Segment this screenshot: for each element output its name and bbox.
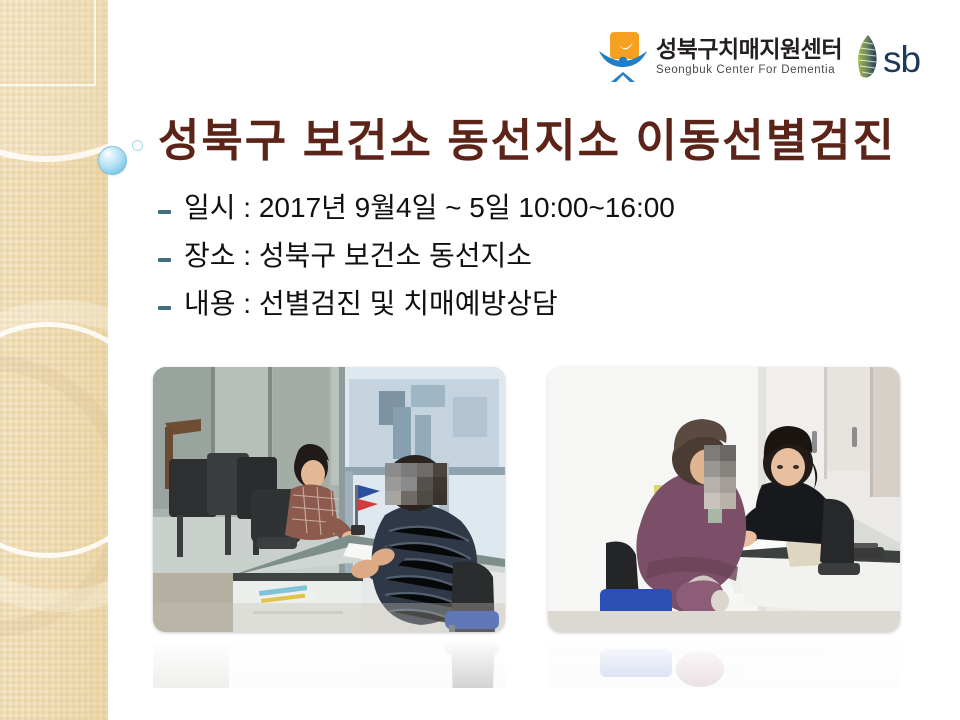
slide-title: 성북구 보건소 동선지소 이동선별검진: [158, 104, 948, 169]
sidebar-arc-top: [0, 0, 108, 162]
bullet-text: 일시 : 2017년 9월4일 ~ 5일 10:00~16:00: [184, 192, 675, 224]
dash-bullet-icon: [158, 306, 171, 310]
photo-consultation-left: [153, 367, 505, 632]
svg-text:sb: sb: [883, 39, 921, 80]
bullet-text: 내용 : 선별검진 및 치매예방상담: [184, 288, 558, 320]
bullet-text: 장소 : 성북구 보건소 동선지소: [184, 240, 532, 272]
small-circle-icon: [132, 140, 143, 151]
decorative-sidebar: [0, 0, 108, 720]
logo-english-name: Seongbuk Center For Dementia: [656, 65, 842, 77]
bullet-item-place: 장소 : 성북구 보건소 동선지소: [158, 240, 898, 272]
logo-korean-name: 성북구치매지원센터: [656, 38, 842, 61]
photo-reflection-left: [153, 634, 505, 688]
dash-bullet-icon: [158, 258, 171, 262]
sidebar-ring-thin: [0, 322, 108, 558]
organization-logo: 성북구치매지원센터 Seongbuk Center For Dementia: [598, 26, 938, 88]
bullet-list: 일시 : 2017년 9월4일 ~ 5일 10:00~16:00 장소 : 성북…: [158, 192, 898, 337]
presentation-slide: 성북구치매지원센터 Seongbuk Center For Dementia: [0, 0, 960, 720]
photo-reflection-right: [548, 634, 900, 688]
dash-bullet-icon: [158, 210, 171, 214]
photo-consultation-right: [548, 367, 900, 632]
bullet-item-date: 일시 : 2017년 9월4일 ~ 5일 10:00~16:00: [158, 192, 898, 224]
logo-text-block: 성북구치매지원센터 Seongbuk Center For Dementia: [656, 38, 842, 77]
bullet-item-content: 내용 : 선별검진 및 치매예방상담: [158, 288, 898, 320]
logo-mark-icon: [598, 31, 648, 83]
sb-wordmark-icon: sb: [852, 32, 938, 82]
blue-bubble-icon: [98, 146, 127, 175]
